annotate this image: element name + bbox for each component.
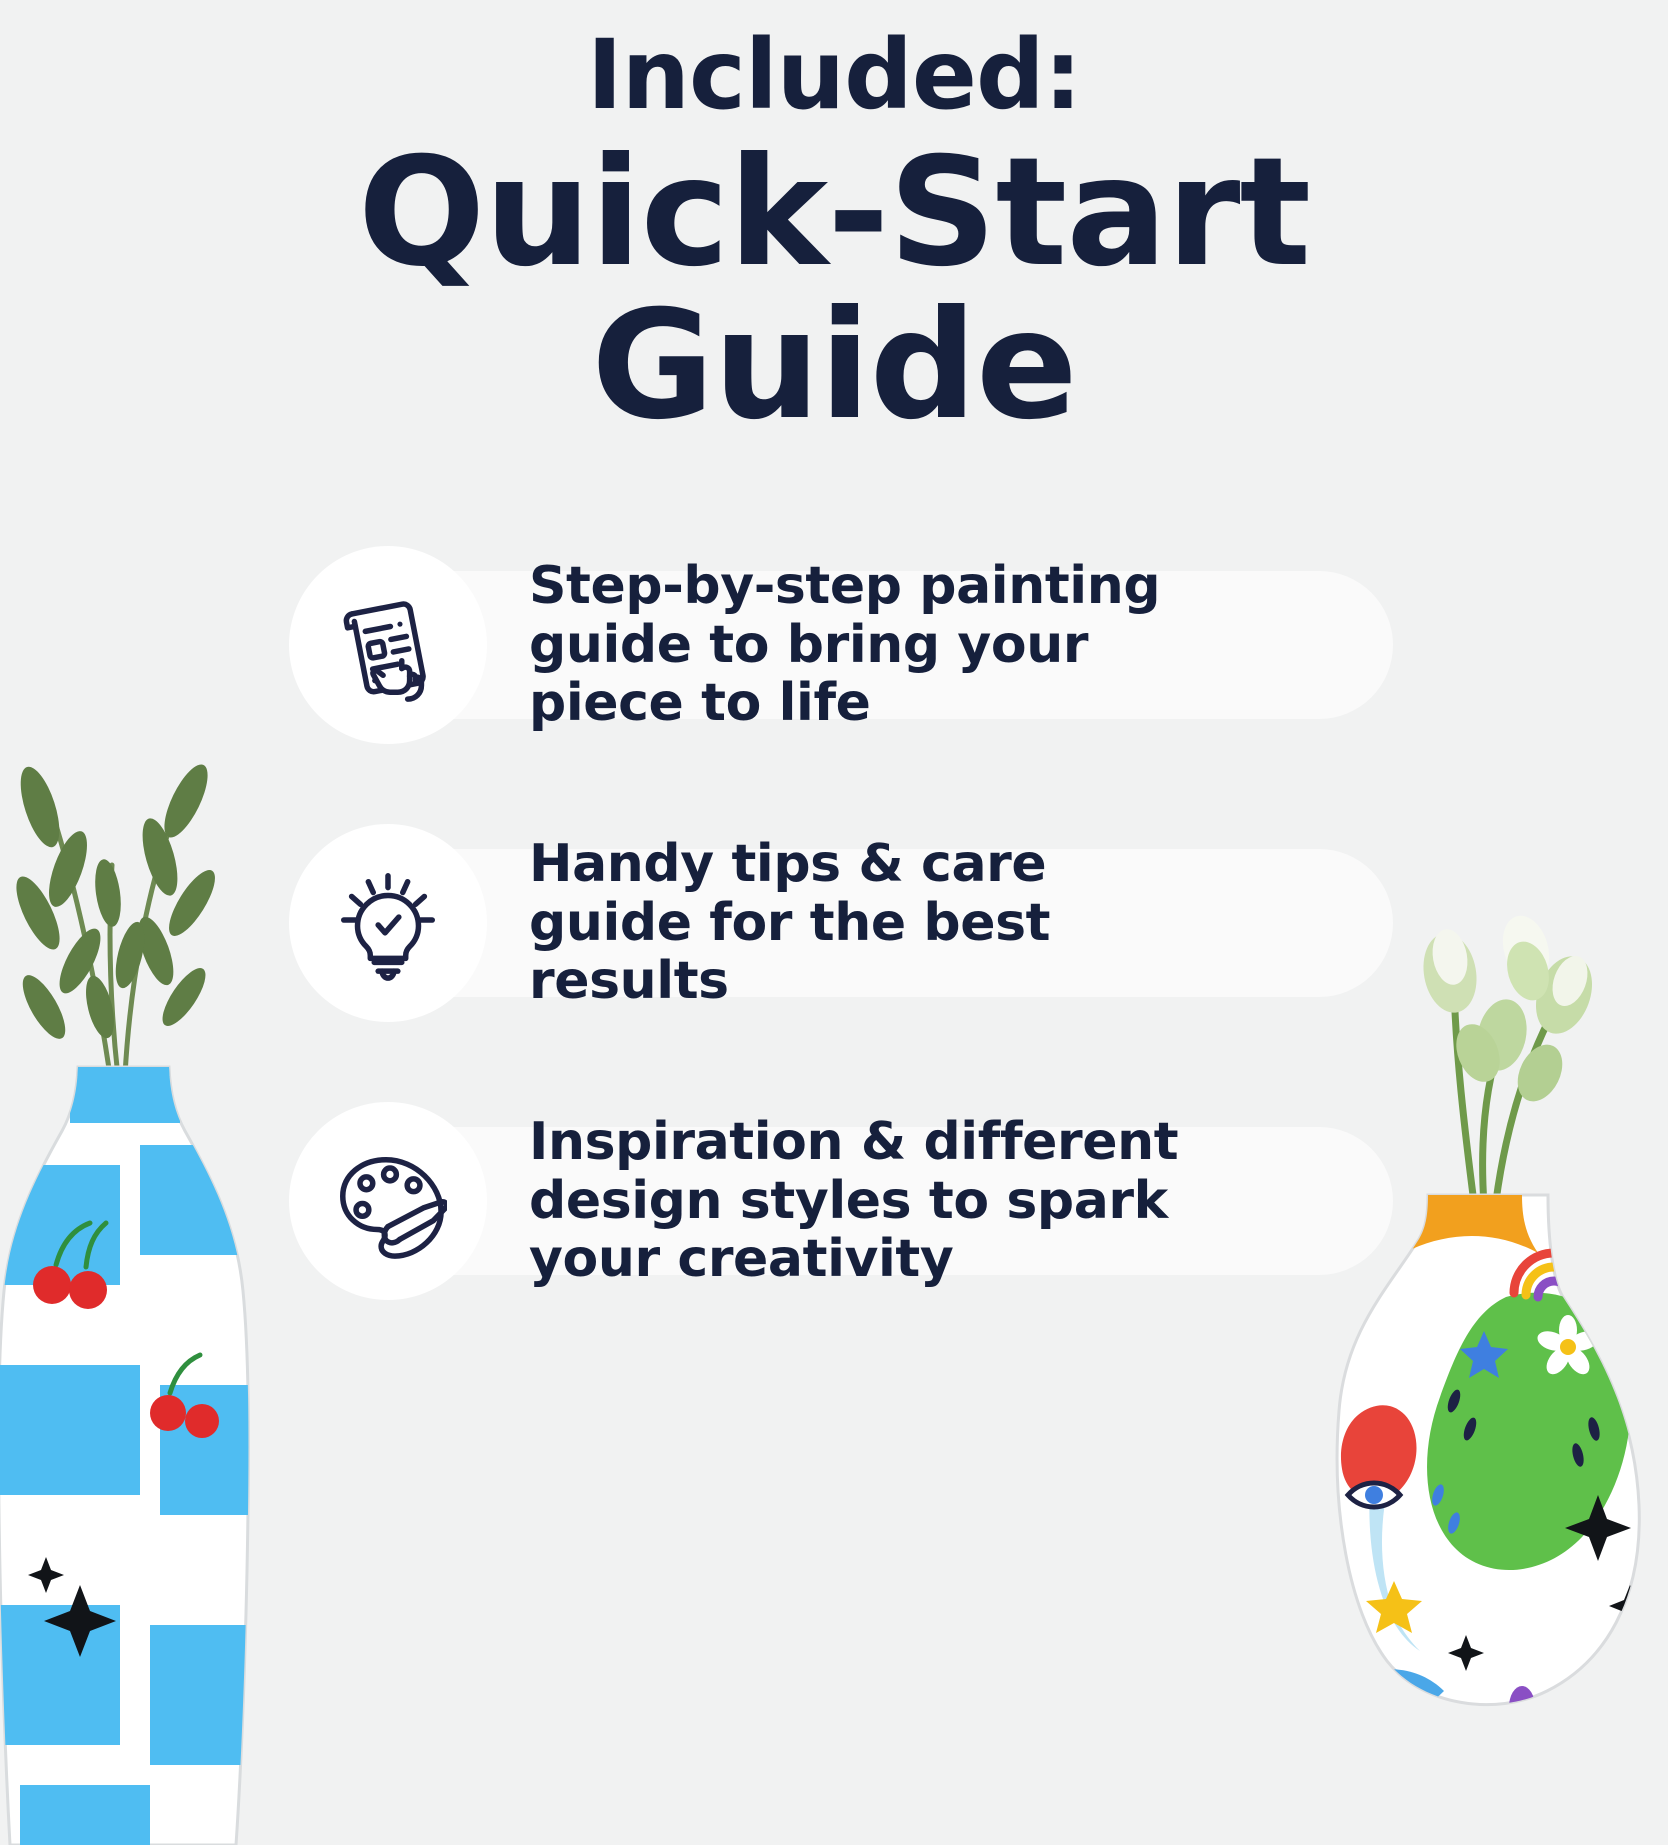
- paint-palette-brush-icon: [329, 1142, 447, 1260]
- feature-text: Inspiration & different design styles to…: [529, 1113, 1178, 1289]
- infographic-canvas: Included: Quick-Start Guide: [0, 0, 1668, 1845]
- title-line-quick-start: Quick-Start: [0, 140, 1668, 287]
- feature-icon-badge: [289, 1102, 487, 1300]
- lightbulb-check-icon: [329, 864, 447, 982]
- feature-card-inspiration[interactable]: Inspiration & different design styles to…: [0, 1101, 1668, 1301]
- title-line-included: Included:: [0, 28, 1668, 122]
- feature-card-tips-care[interactable]: Handy tips & care guide for the best res…: [0, 823, 1668, 1023]
- eye-motif: [1348, 1483, 1400, 1507]
- feature-list: Step-by-step painting guide to bring you…: [0, 545, 1668, 1379]
- feature-icon-badge: [289, 824, 487, 1022]
- title-line-guide: Guide: [0, 293, 1668, 440]
- document-checklist-hand-icon: [329, 586, 447, 704]
- feature-card-step-by-step[interactable]: Step-by-step painting guide to bring you…: [0, 545, 1668, 745]
- feature-text: Handy tips & care guide for the best res…: [529, 835, 1050, 1011]
- feature-text: Step-by-step painting guide to bring you…: [529, 557, 1160, 733]
- feature-icon-badge: [289, 546, 487, 744]
- page-title: Included: Quick-Start Guide: [0, 28, 1668, 440]
